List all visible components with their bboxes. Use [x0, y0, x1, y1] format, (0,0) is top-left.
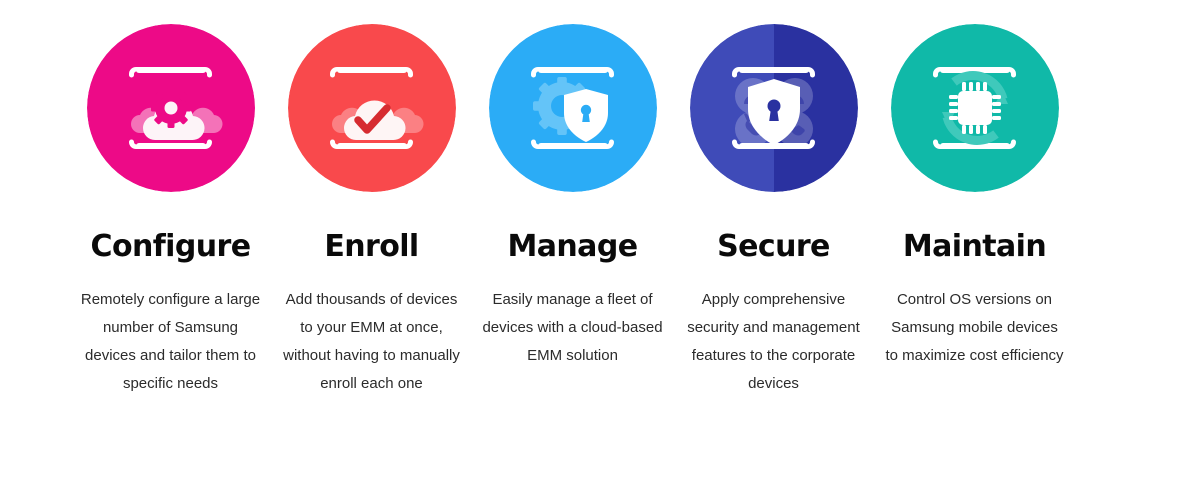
chip-refresh-phone-icon: [891, 24, 1059, 192]
feature-row: Configure Remotely configure a large num…: [0, 0, 1200, 500]
feature-card-manage[interactable]: Manage Easily manage a fleet of devices …: [472, 0, 673, 370]
feature-description: Control OS versions on Samsung mobile de…: [884, 286, 1066, 370]
feature-description: Easily manage a fleet of devices with a …: [482, 286, 664, 370]
cloud-gear-phone-icon: [87, 24, 255, 192]
feature-card-maintain[interactable]: Maintain Control OS versions on Samsung …: [874, 0, 1075, 370]
feature-title-wrap: Configure: [91, 229, 251, 265]
feature-title-wrap: Enroll: [324, 229, 418, 265]
feature-title: Maintain: [903, 229, 1046, 265]
feature-title-wrap: Maintain: [903, 229, 1046, 265]
feature-title-wrap: Manage: [508, 229, 638, 265]
feature-title-wrap: Secure: [717, 229, 830, 265]
feature-title: Manage: [508, 229, 638, 265]
cloud-check-phone-icon: [288, 24, 456, 192]
gear-shield-phone-icon: [489, 24, 657, 192]
shield-lock-apps-phone-icon: [690, 24, 858, 192]
feature-title: Enroll: [324, 229, 418, 265]
feature-title: Secure: [717, 229, 830, 265]
feature-description: Remotely configure a large number of Sam…: [80, 286, 262, 398]
feature-description: Apply comprehensive security and managem…: [683, 286, 865, 398]
feature-title: Configure: [91, 229, 251, 265]
feature-card-configure[interactable]: Configure Remotely configure a large num…: [70, 0, 271, 398]
feature-card-enroll[interactable]: Enroll Add thousands of devices to your …: [271, 0, 472, 398]
feature-description: Add thousands of devices to your EMM at …: [281, 286, 463, 398]
feature-card-secure[interactable]: Secure Apply comprehensive security and …: [673, 0, 874, 398]
